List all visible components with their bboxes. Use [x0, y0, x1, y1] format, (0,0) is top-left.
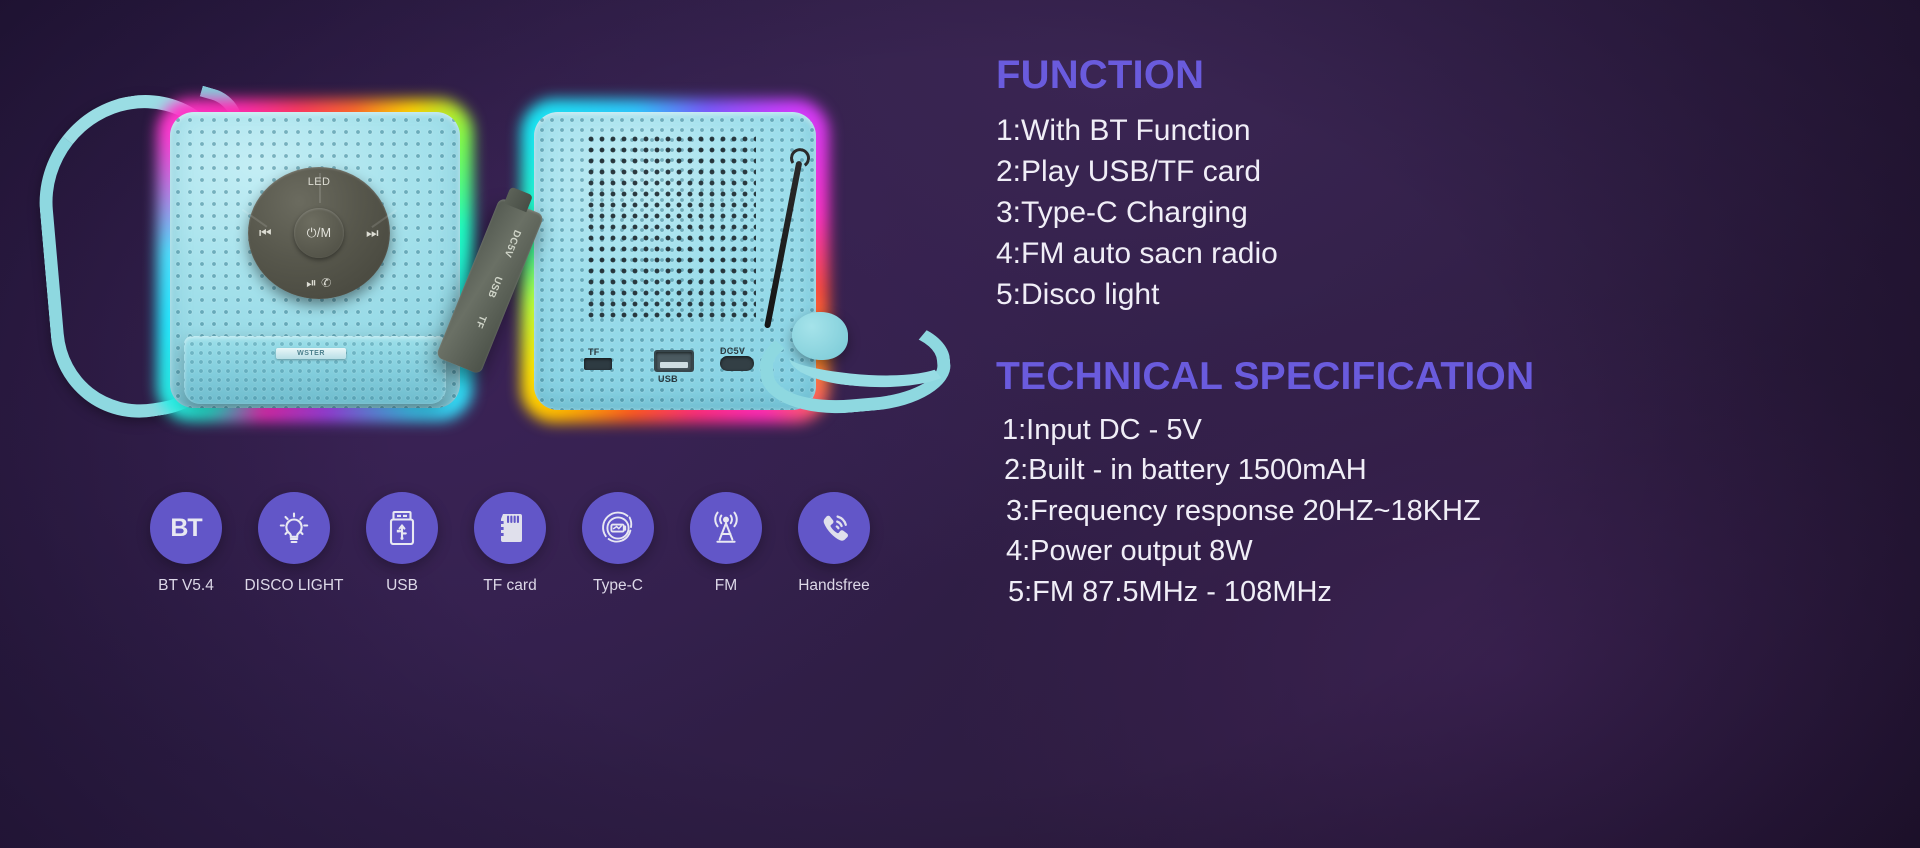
phone-call-icon [798, 492, 870, 564]
feature-icon-row: BT BT V5.4 DISCO LIGHT [150, 492, 870, 595]
spec-item: 5:FM 87.5MHz - 108MHz [996, 572, 1896, 613]
technical-specification-block: TECHNICAL SPECIFICATION 1:Input DC - 5V … [996, 357, 1896, 612]
port-row: TF USB DC5V [570, 346, 782, 380]
product-stage: WSTER LED ⏮ ⏭ ⏯ ✆ ⏻/M TF USB DC5V [0, 0, 980, 848]
technical-specification-heading: TECHNICAL SPECIFICATION [996, 357, 1896, 398]
slab-label-usb: USB [485, 274, 504, 299]
speaker-front-base: WSTER [184, 336, 446, 404]
feature-label: TF card [483, 577, 536, 595]
bulb-icon [258, 492, 330, 564]
spec-item: 3:Frequency response 20HZ~18KHZ [996, 491, 1896, 532]
function-item: 3:Type-C Charging [996, 192, 1896, 233]
function-item: 1:With BT Function [996, 110, 1896, 151]
technical-specification-list: 1:Input DC - 5V 2:Built - in battery 150… [996, 410, 1896, 613]
feature-handsfree[interactable]: Handsfree [798, 492, 870, 595]
battery-icon [582, 492, 654, 564]
feature-type-c[interactable]: Type-C [582, 492, 654, 595]
antenna-icon [690, 492, 762, 564]
speaker-driver-grille [588, 136, 756, 322]
spec-item: 2:Built - in battery 1500mAH [996, 450, 1896, 491]
spec-item: 4:Power output 8W [996, 531, 1896, 572]
feature-label: Type-C [593, 577, 643, 595]
bt-icon-glyph: BT [170, 514, 201, 543]
previous-track-button[interactable]: ⏮ [259, 225, 272, 242]
tf-slot-label: TF [588, 347, 600, 357]
led-button-label[interactable]: LED [308, 176, 331, 188]
tf-card-slot[interactable] [584, 358, 612, 370]
function-heading: FUNCTION [996, 54, 1896, 96]
feature-label: DISCO LIGHT [244, 577, 343, 595]
bt-icon: BT [150, 492, 222, 564]
usb-port-label: USB [658, 374, 678, 384]
function-item: 5:Disco light [996, 274, 1896, 315]
usb-drive-icon [366, 492, 438, 564]
type-c-port[interactable] [720, 356, 754, 371]
feature-fm[interactable]: FM [690, 492, 762, 595]
speaker-base-texture [184, 336, 446, 404]
function-block: FUNCTION 1:With BT Function 2:Play USB/T… [996, 54, 1896, 315]
function-list: 1:With BT Function 2:Play USB/TF card 3:… [996, 110, 1896, 315]
feature-bt[interactable]: BT BT V5.4 [150, 492, 222, 595]
usb-port[interactable] [654, 350, 694, 372]
dc5v-label: DC5V [720, 346, 745, 356]
spec-item: 1:Input DC - 5V [996, 410, 1896, 451]
function-item: 4:FM auto sacn radio [996, 233, 1896, 274]
next-track-button[interactable]: ⏭ [366, 225, 379, 242]
feature-label: FM [715, 577, 737, 595]
feature-label: Handsfree [798, 577, 870, 595]
sd-card-icon [474, 492, 546, 564]
feature-disco-light[interactable]: DISCO LIGHT [258, 492, 330, 595]
control-pad[interactable]: LED ⏮ ⏭ ⏯ ✆ ⏻/M [248, 167, 390, 299]
feature-label: USB [386, 577, 418, 595]
slab-label-tf: TF [473, 313, 488, 329]
play-call-button[interactable]: ⏯ ✆ [306, 275, 331, 291]
usb-port-inner [660, 362, 688, 368]
feature-label: BT V5.4 [158, 577, 214, 595]
power-mode-button[interactable]: ⏻/M [294, 208, 344, 258]
slab-label-dc5v: DC5V [502, 228, 523, 259]
function-item: 2:Play USB/TF card [996, 151, 1896, 192]
brand-plate: WSTER [276, 348, 346, 359]
info-panel: FUNCTION 1:With BT Function 2:Play USB/T… [996, 54, 1896, 612]
feature-usb[interactable]: USB [366, 492, 438, 595]
feature-tf-card[interactable]: TF card [474, 492, 546, 595]
